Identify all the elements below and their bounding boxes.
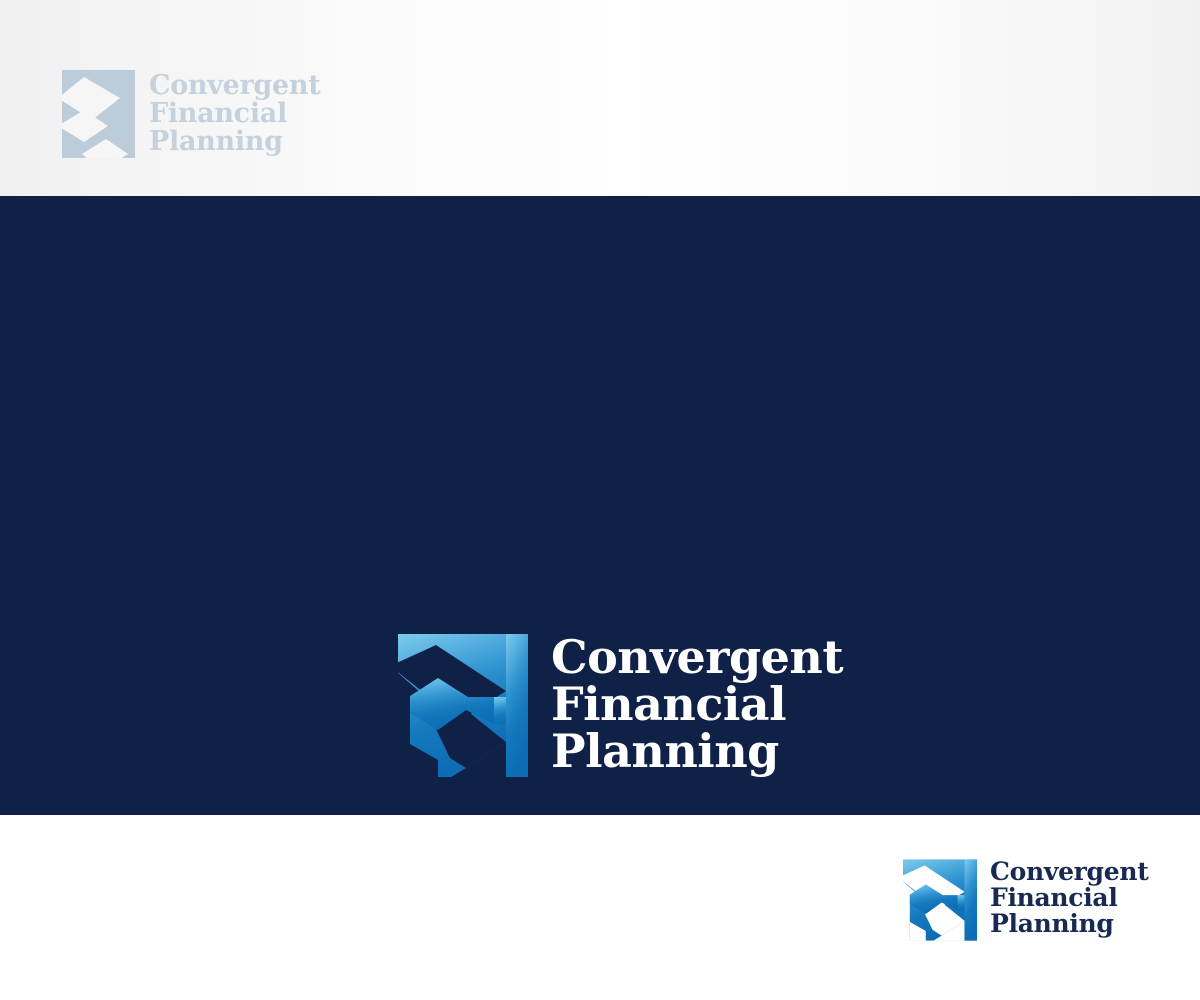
wordmark-line-2: Financial xyxy=(990,885,1148,911)
hero-wordmark: Convergent Financial Planning xyxy=(551,634,843,775)
hero-panel: Convergent Financial Planning GreenLamp1… xyxy=(0,196,1200,815)
logo-presentation-page: Convergent Financial Planning xyxy=(0,0,1200,1000)
header-wordmark: Convergent Financial Planning xyxy=(149,72,320,155)
convergent-chevron-mark-icon xyxy=(62,70,135,158)
wordmark-line-1: Convergent xyxy=(551,634,843,681)
wordmark-line-2: Financial xyxy=(551,681,843,728)
wordmark-line-2: Financial xyxy=(149,100,320,128)
wordmark-line-1: Convergent xyxy=(149,72,320,100)
wordmark-line-3: Planning xyxy=(149,128,320,156)
footer-logo-lockup: Convergent Financial Planning xyxy=(903,859,1148,941)
header-logo-lockup: Convergent Financial Planning xyxy=(62,70,320,158)
footer-wordmark: Convergent Financial Planning xyxy=(990,859,1148,936)
footer-area: Convergent Financial Planning xyxy=(0,815,1200,1000)
wordmark-line-1: Convergent xyxy=(990,859,1148,885)
header-band: Convergent Financial Planning xyxy=(0,0,1200,196)
hero-logo-lockup: Convergent Financial Planning xyxy=(398,634,843,777)
convergent-chevron-mark-icon xyxy=(398,634,528,777)
wordmark-line-3: Planning xyxy=(551,728,843,775)
wordmark-line-3: Planning xyxy=(990,911,1148,937)
convergent-chevron-mark-icon xyxy=(903,859,977,941)
